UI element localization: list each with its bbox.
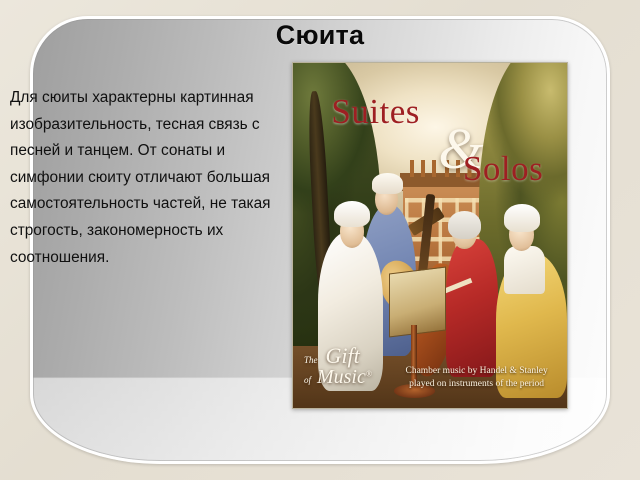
presentation-slide: Сюита Для сюиты характерны картинная изо… [0,0,640,480]
album-cover-image: Suites & Solos Chamber music by Handel &… [292,62,568,409]
registered-trademark-icon: ® [366,370,372,379]
logo-line-gift: Gift [325,343,359,368]
body-paragraph: Для сюиты характерны картинная изобразит… [10,85,302,271]
painting-cellist-wig [448,211,481,239]
painting-woman-white-cap [334,201,370,227]
logo-line-the: The [304,355,318,365]
logo-line-of: of [304,375,311,385]
logo-line-music: Music [317,366,366,388]
page-title: Сюита [0,20,640,51]
album-title-suites: Suites [331,92,420,132]
painting-music-stand [389,267,446,338]
painting-woman-gold-cap [504,204,540,232]
gift-of-music-logo: TheGift ofMusic® [304,345,414,387]
album-caption: Chamber music by Handel & Stanley played… [397,365,556,391]
painting-woman-gold-bodice [504,246,545,294]
painting-lute-player-cap [372,173,402,194]
album-title-solos: Solos [463,149,543,189]
painting-cellist-coat [446,239,498,377]
